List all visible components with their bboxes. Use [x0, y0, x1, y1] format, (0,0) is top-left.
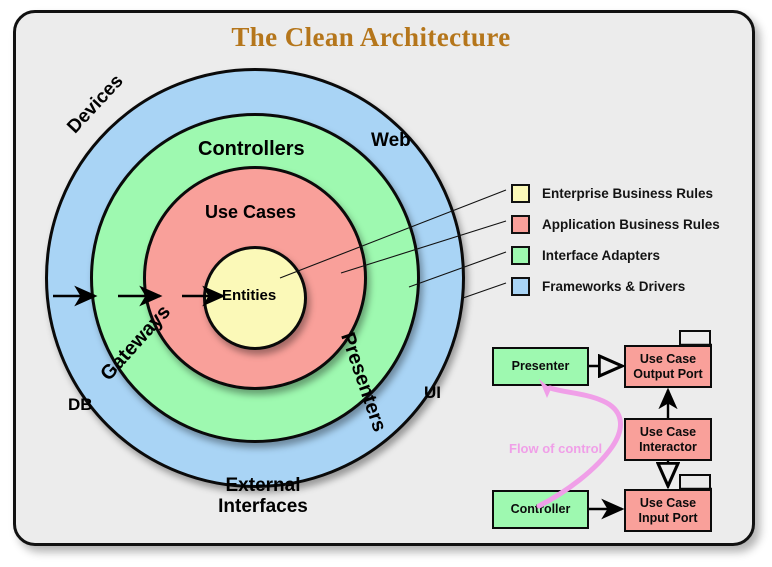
- output-port-line2: Output Port: [633, 367, 702, 381]
- flow-box-label: Presenter: [512, 359, 570, 374]
- flow-of-control-label: Flow of control: [509, 441, 602, 456]
- interactor-line2: Interactor: [639, 440, 697, 454]
- flow-box-label: Use Case Interactor: [639, 425, 697, 455]
- legend-label: Application Business Rules: [542, 217, 720, 232]
- interactor-line1: Use Case: [640, 425, 696, 439]
- ring-label-use-cases: Use Cases: [205, 203, 296, 222]
- output-port-line1: Use Case: [640, 352, 696, 366]
- flow-box-label: Controller: [511, 502, 571, 517]
- legend-label: Interface Adapters: [542, 248, 660, 263]
- legend-swatch-icon: [511, 246, 530, 265]
- flow-box-label: Use Case Output Port: [633, 352, 702, 382]
- legend-item-frameworks-drivers: Frameworks & Drivers: [511, 271, 720, 302]
- flow-box-presenter: Presenter: [492, 347, 589, 386]
- ring-label-ui: UI: [424, 384, 441, 402]
- legend-swatch-icon: [511, 277, 530, 296]
- interface-marker-input-port: <I>: [682, 477, 699, 488]
- interface-marker-output-port: <I>: [682, 333, 699, 344]
- external-interfaces-line2: Interfaces: [198, 497, 328, 518]
- legend-label: Frameworks & Drivers: [542, 279, 685, 294]
- external-interfaces-line1: External: [198, 476, 328, 497]
- legend: Enterprise Business Rules Application Bu…: [511, 178, 720, 302]
- flow-box-label: Use Case Input Port: [638, 496, 697, 526]
- legend-item-application-business-rules: Application Business Rules: [511, 209, 720, 240]
- input-port-line1: Use Case: [640, 496, 696, 510]
- flow-box-use-case-interactor: Use Case Interactor: [624, 418, 712, 461]
- legend-label: Enterprise Business Rules: [542, 186, 713, 201]
- flow-box-use-case-output-port: Use Case Output Port: [624, 345, 712, 388]
- ring-label-web: Web: [371, 131, 411, 152]
- page-title: The Clean Architecture: [0, 22, 742, 53]
- flow-box-use-case-input-port: Use Case Input Port: [624, 489, 712, 532]
- legend-swatch-icon: [511, 215, 530, 234]
- ring-label-db: DB: [68, 396, 93, 414]
- legend-item-enterprise-business-rules: Enterprise Business Rules: [511, 178, 720, 209]
- legend-item-interface-adapters: Interface Adapters: [511, 240, 720, 271]
- clean-architecture-diagram: The Clean Architecture Devices Web DB UI…: [0, 0, 772, 567]
- input-port-line2: Input Port: [638, 511, 697, 525]
- ring-label-external-interfaces: External Interfaces: [198, 476, 328, 517]
- legend-swatch-icon: [511, 184, 530, 203]
- ring-label-entities: Entities: [222, 288, 276, 304]
- ring-label-controllers: Controllers: [198, 139, 305, 161]
- flow-box-controller: Controller: [492, 490, 589, 529]
